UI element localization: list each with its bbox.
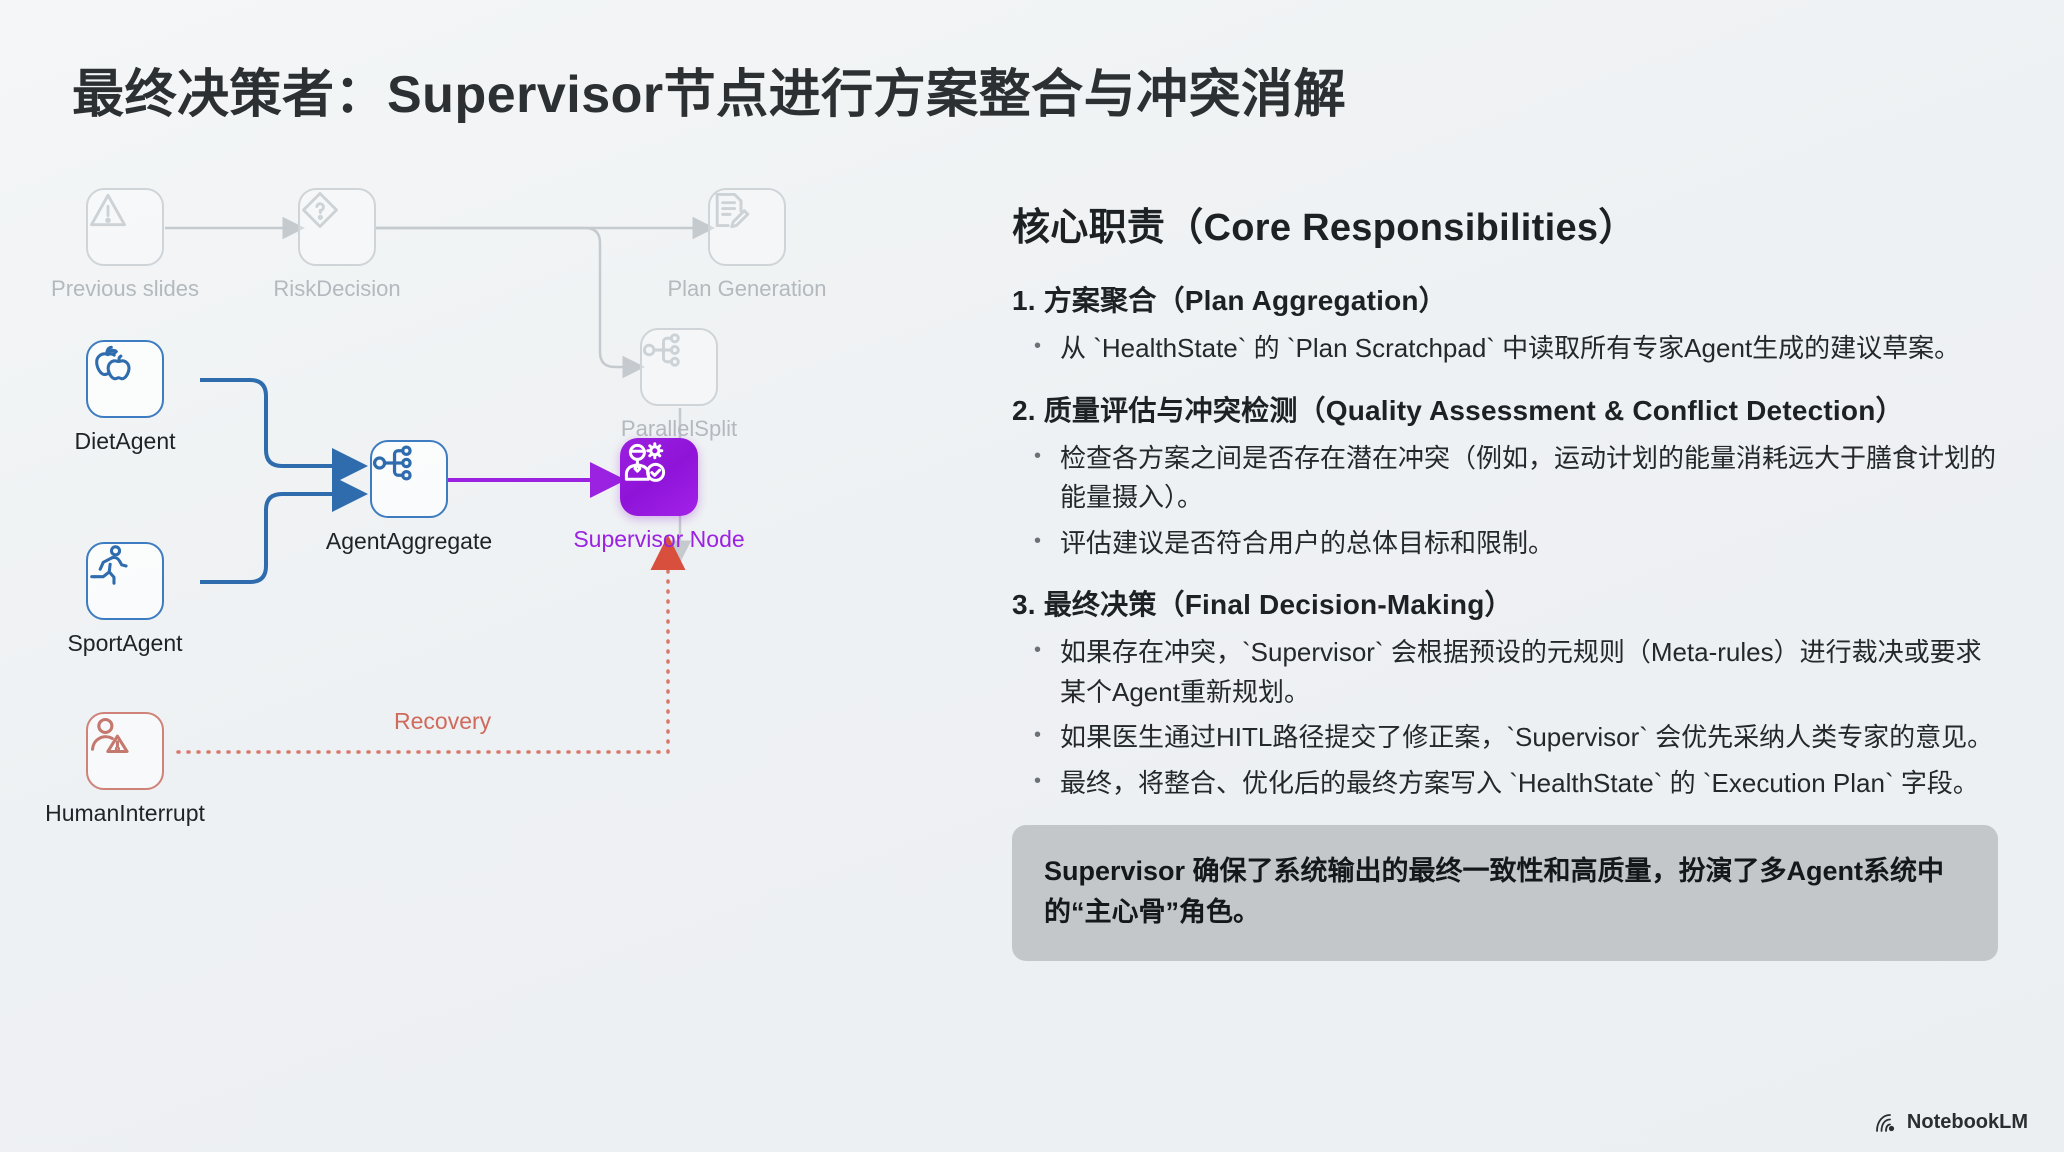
agent-aggregate-box[interactable] bbox=[370, 440, 448, 518]
item-heading: 3. 最终决策（Final Decision-Making） bbox=[1012, 583, 2002, 623]
responsibility-item: 1. 方案聚合（Plan Aggregation） 从 `HealthState… bbox=[1012, 279, 2002, 369]
sport-agent-box[interactable] bbox=[86, 542, 164, 620]
node-label: DietAgent bbox=[74, 428, 175, 455]
node-diet-agent[interactable]: DietAgent bbox=[86, 340, 164, 418]
node-sport-agent[interactable]: SportAgent bbox=[86, 542, 164, 620]
node-label: AgentAggregate bbox=[326, 528, 492, 555]
parallel-split-box[interactable] bbox=[640, 328, 718, 406]
supervisor-box[interactable] bbox=[620, 438, 698, 516]
supervisor-gear-check-icon bbox=[620, 438, 668, 486]
fork-merge-icon bbox=[370, 440, 416, 486]
bullet-item: 最终，将整合、优化后的最终方案写入 `HealthState` 的 `Execu… bbox=[1012, 764, 2002, 804]
responsibility-item: 2. 质量评估与冲突检测（Quality Assessment & Confli… bbox=[1012, 389, 2002, 564]
node-risk-decision[interactable]: RiskDecision bbox=[298, 188, 376, 266]
warning-triangle-icon bbox=[86, 188, 130, 232]
plan-generation-box[interactable] bbox=[708, 188, 786, 266]
node-label: RiskDecision bbox=[273, 276, 400, 302]
node-previous-slides[interactable]: Previous slides bbox=[86, 188, 164, 266]
node-supervisor[interactable]: Supervisor Node bbox=[620, 438, 698, 516]
responsibility-item: 3. 最终决策（Final Decision-Making） 如果存在冲突，`S… bbox=[1012, 583, 2002, 803]
bullet-item: 检查各方案之间是否存在潜在冲突（例如，运动计划的能量消耗远大于膳食计划的能量摄入… bbox=[1012, 439, 2002, 518]
page-title: 最终决策者：Supervisor节点进行方案整合与冲突消解 bbox=[72, 52, 1346, 127]
bullet-list: 如果存在冲突，`Supervisor` 会根据预设的元规则（Meta-rules… bbox=[1012, 633, 2002, 803]
bullet-list: 检查各方案之间是否存在潜在冲突（例如，运动计划的能量消耗远大于膳食计划的能量摄入… bbox=[1012, 439, 2002, 564]
node-agent-aggregate[interactable]: AgentAggregate bbox=[370, 440, 448, 518]
person-warning-icon bbox=[86, 712, 132, 758]
bullet-list: 从 `HealthState` 的 `Plan Scratchpad` 中读取所… bbox=[1012, 329, 2002, 369]
slide-root: 最终决策者：Supervisor节点进行方案整合与冲突消解 bbox=[0, 0, 2064, 1152]
node-parallel-split[interactable]: ParallelSplit bbox=[640, 328, 718, 406]
running-person-icon bbox=[86, 542, 132, 588]
node-label: Plan Generation bbox=[668, 276, 827, 302]
node-label: Previous slides bbox=[51, 276, 199, 302]
brand-label: NotebookLM bbox=[1907, 1111, 2028, 1134]
bullet-item: 评估建议是否符合用户的总体目标和限制。 bbox=[1012, 524, 2002, 564]
diet-agent-box[interactable] bbox=[86, 340, 164, 418]
apple-icon bbox=[86, 340, 132, 386]
node-label: Supervisor Node bbox=[573, 526, 744, 553]
bullet-item: 从 `HealthState` 的 `Plan Scratchpad` 中读取所… bbox=[1012, 329, 2002, 369]
item-heading: 2. 质量评估与冲突检测（Quality Assessment & Confli… bbox=[1012, 389, 2002, 429]
previous-slides-box[interactable] bbox=[86, 188, 164, 266]
item-heading: 1. 方案聚合（Plan Aggregation） bbox=[1012, 279, 2002, 319]
bullet-item: 如果存在冲突，`Supervisor` 会根据预设的元规则（Meta-rules… bbox=[1012, 633, 2002, 712]
bullet-item: 如果医生通过HITL路径提交了修正案，`Supervisor` 会优先采纳人类专… bbox=[1012, 718, 2002, 758]
document-edit-icon bbox=[708, 188, 752, 232]
notebooklm-watermark: NotebookLM bbox=[1875, 1111, 2028, 1134]
node-label: HumanInterrupt bbox=[45, 800, 205, 827]
human-interrupt-box[interactable] bbox=[86, 712, 164, 790]
panel-heading: 核心职责（Core Responsibilities） bbox=[1012, 196, 2002, 251]
notebooklm-logo-icon bbox=[1875, 1112, 1899, 1134]
node-plan-generation[interactable]: Plan Generation bbox=[708, 188, 786, 266]
diamond-question-icon bbox=[298, 188, 342, 232]
risk-decision-box[interactable] bbox=[298, 188, 376, 266]
summary-callout: Supervisor 确保了系统输出的最终一致性和高质量，扮演了多Agent系统… bbox=[1012, 825, 1998, 961]
node-human-interrupt[interactable]: HumanInterrupt bbox=[86, 712, 164, 790]
node-label: SportAgent bbox=[67, 630, 182, 657]
fork-split-icon bbox=[640, 328, 684, 372]
edge-label-recovery: Recovery bbox=[394, 708, 491, 735]
core-responsibilities-panel: 核心职责（Core Responsibilities） 1. 方案聚合（Plan… bbox=[1012, 196, 2002, 961]
architecture-diagram: Previous slides RiskDecision bbox=[0, 150, 960, 1090]
